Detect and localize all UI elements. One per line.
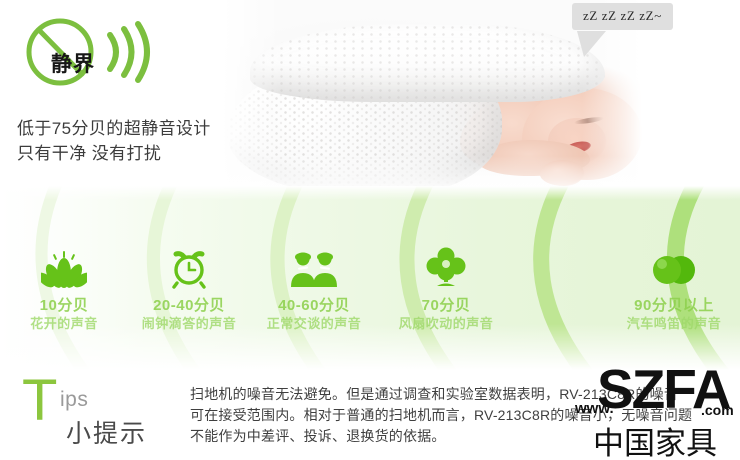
band-fade-top: [0, 186, 740, 200]
no-sound-circle-icon: [18, 14, 178, 92]
decibel-level-4: 90分贝以上: [600, 294, 740, 315]
tips-label-cn: 小提示: [66, 414, 147, 450]
hero-section: zZ zZ zZ zZ~ 静界 低于75分贝的超静音设计 只有干净 没有打扰: [0, 0, 740, 195]
decibel-source-4: 汽车鸣笛的声音: [600, 313, 740, 332]
decibel-item-2: 40-60分贝 正常交谈的声音: [240, 243, 388, 332]
electric-fan-icon: [372, 243, 520, 289]
decibel-icon-row: 10分贝 花开的声音 20-40分贝 闹钟滴答的声音: [0, 243, 740, 338]
decibel-item-4: 90分贝以上 汽车鸣笛的声音: [600, 243, 740, 332]
quiet-brand-logo: 静界: [18, 14, 178, 92]
tagline: 低于75分贝的超静音设计 只有干净 没有打扰: [17, 116, 211, 166]
decibel-level-2: 40-60分贝: [240, 294, 388, 315]
sleep-speech-bubble: zZ zZ zZ zZ~: [572, 3, 673, 30]
brand-name-cn: 静界: [51, 48, 95, 78]
page-root: zZ zZ zZ zZ~ 静界 低于75分贝的超静音设计 只有干净 没有打扰: [0, 0, 740, 460]
tagline-line-2: 只有干净 没有打扰: [17, 141, 211, 166]
decibel-item-3: 70分贝 风扇吹动的声音: [372, 243, 520, 332]
decibel-level-3: 70分贝: [372, 294, 520, 315]
tips-letter-t: T: [22, 372, 57, 430]
blanket-hood: [250, 24, 605, 102]
tips-paragraph-line-3: 不能作为中差评、投诉、退换货的依据。: [190, 426, 735, 447]
two-people-talking-icon: [240, 243, 388, 289]
tips-paragraph-line-1: 扫地机的噪音无法避免。但是通过调查和实验室数据表明，RV-213C8R的噪音: [190, 384, 735, 405]
tips-logo: T ips 小提示: [20, 378, 180, 456]
decibel-source-2: 正常交谈的声音: [240, 313, 388, 332]
sound-wave-icon: [110, 24, 147, 80]
tagline-line-1: 低于75分贝的超静音设计: [17, 116, 211, 141]
tips-paragraph: 扫地机的噪音无法避免。但是通过调查和实验室数据表明，RV-213C8R的噪音 可…: [190, 384, 735, 447]
decibel-source-3: 风扇吹动的声音: [372, 313, 520, 332]
tips-letters-ips: ips: [60, 388, 88, 412]
speech-bubble-tail: [577, 31, 606, 57]
tips-paragraph-line-2: 可在接受范围内。相对于普通的扫地机而言，RV-213C8R的噪音小，无噪音问题: [190, 405, 735, 426]
car-horn-icon: [600, 243, 740, 289]
